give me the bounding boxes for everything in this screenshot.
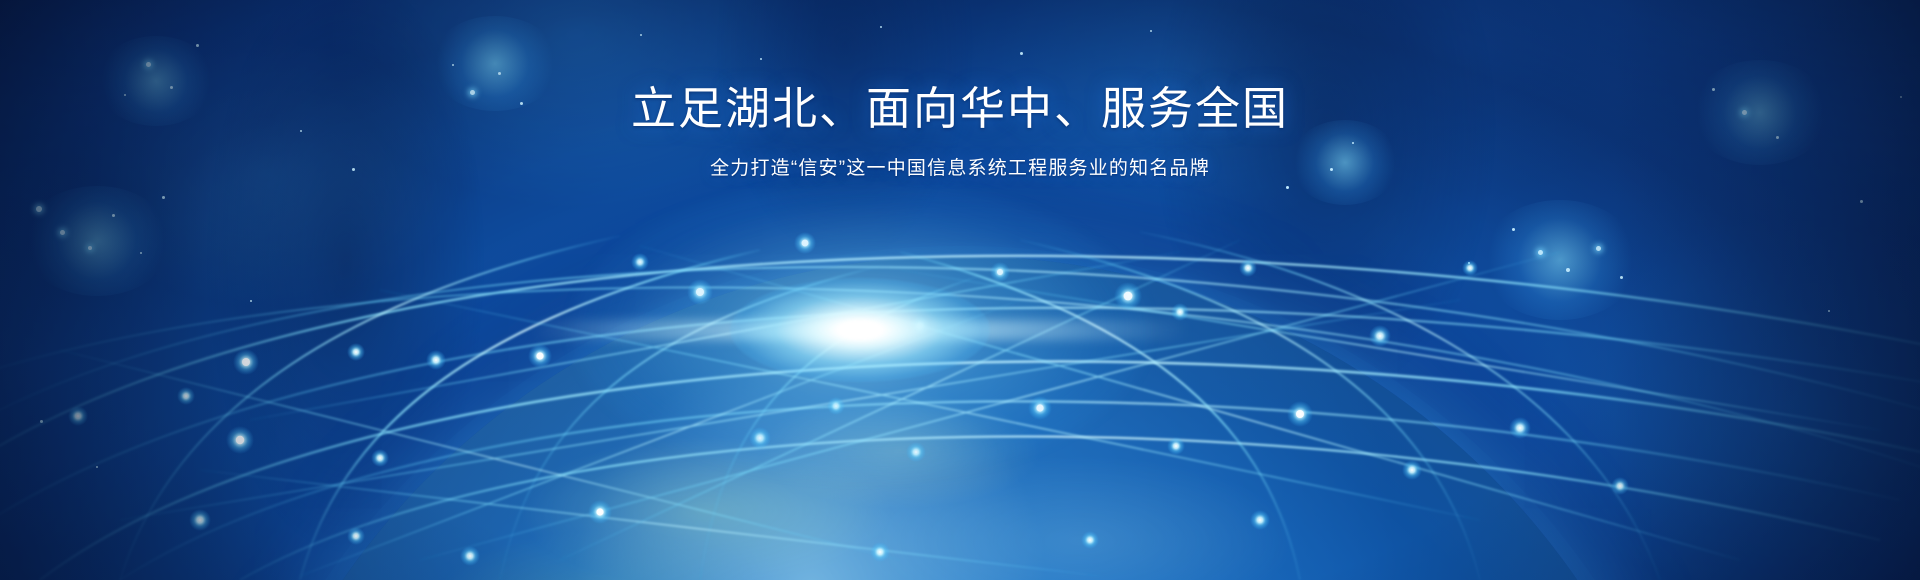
hero-banner: 立足湖北、面向华中、服务全国 全力打造“信安”这一中国信息系统工程服务业的知名品… <box>0 0 1920 580</box>
banner-copy: 立足湖北、面向华中、服务全国 全力打造“信安”这一中国信息系统工程服务业的知名品… <box>0 86 1920 178</box>
banner-subheadline: 全力打造“信安”这一中国信息系统工程服务业的知名品牌 <box>0 159 1920 178</box>
banner-headline: 立足湖北、面向华中、服务全国 <box>0 86 1920 131</box>
light-burst-core <box>730 278 990 382</box>
